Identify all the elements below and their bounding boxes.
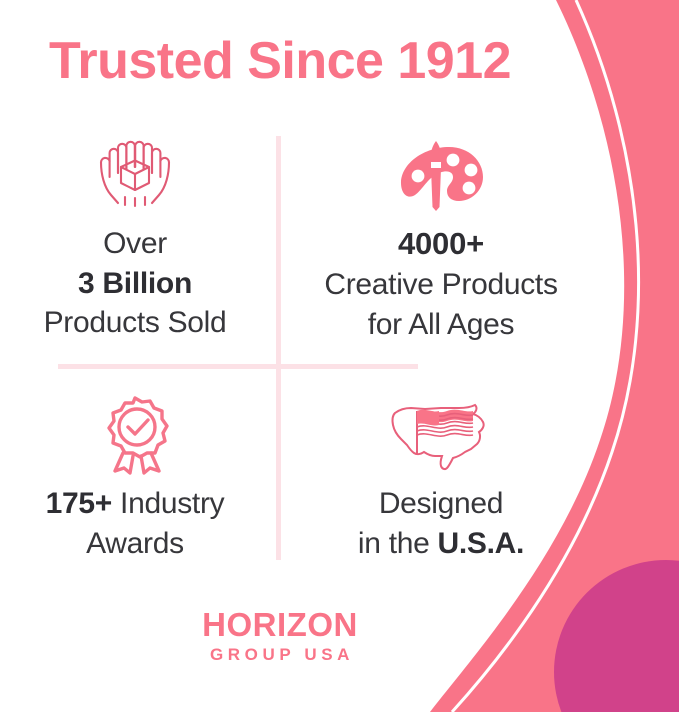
feature-designed-in-usa: Designed in the U.S.A. <box>288 392 594 563</box>
feature-line-3: U.S.A. <box>438 527 525 560</box>
usa-flag <box>417 410 473 455</box>
usa-map-flag-icon <box>381 392 501 478</box>
feature-line-1: Designed <box>379 487 503 520</box>
feature-line-1: 4000+ <box>324 224 557 265</box>
feature-text-creative-products: 4000+ Creative Products for All Ages <box>324 224 557 344</box>
paint-brush <box>431 141 441 161</box>
award-ribbon-icon <box>85 392 185 478</box>
feature-text-industry-awards: 175+ Industry Awards <box>46 484 225 563</box>
feature-creative-products: 4000+ Creative Products for All Ages <box>288 132 594 344</box>
infographic-poster: Trusted Since 1912 <box>0 0 679 712</box>
feature-line-3: Awards <box>86 527 184 560</box>
feature-line-3: for All Ages <box>368 308 515 341</box>
feature-products-sold: Over 3 Billion Products Sold <box>0 132 270 343</box>
feature-line-3: Products Sold <box>44 306 227 339</box>
hands-holding-box-icon <box>85 132 185 218</box>
magenta-circle-shape <box>554 560 679 712</box>
logo-sub-text: GROUP USA <box>0 646 560 663</box>
feature-line-2: Industry <box>112 487 224 520</box>
feature-line-2: in the <box>358 527 438 560</box>
feature-text-designed-in-usa: Designed in the U.S.A. <box>358 484 524 563</box>
divider-vertical <box>276 136 281 560</box>
feature-line-1: Over <box>103 227 167 260</box>
feature-text-products-sold: Over 3 Billion Products Sold <box>44 224 227 343</box>
divider-horizontal <box>58 364 418 369</box>
feature-industry-awards: 175+ Industry Awards <box>0 392 270 563</box>
pink-swoosh-shape <box>430 0 679 712</box>
brand-logo: HORIZON GROUP USA <box>0 608 560 663</box>
paint-palette-icon <box>391 132 491 218</box>
logo-main-text: HORIZON <box>0 608 560 641</box>
feature-line-1: 175+ <box>46 487 112 520</box>
feature-line-2: 3 Billion <box>78 267 192 300</box>
swoosh-white-accent-line <box>452 0 639 712</box>
feature-line-2: Creative Products <box>324 268 557 301</box>
page-title: Trusted Since 1912 <box>0 34 560 89</box>
